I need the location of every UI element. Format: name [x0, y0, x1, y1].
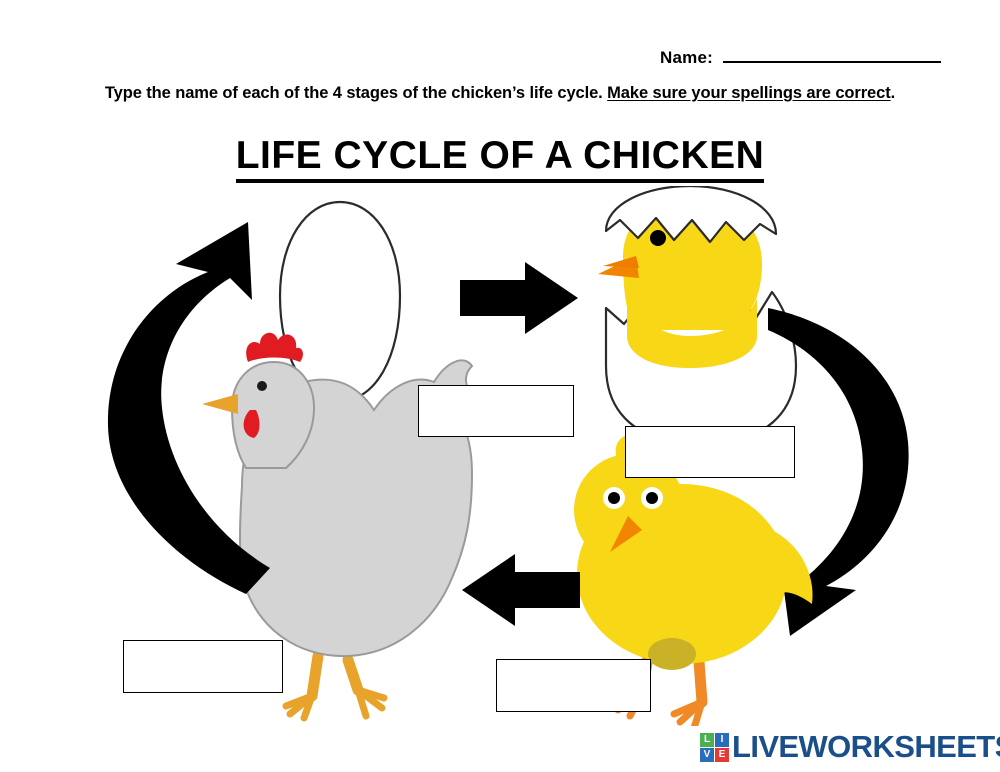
liveworksheets-logo-text: LIVEWORKSHEETS [732, 729, 1000, 765]
worksheet-page: Name: Type the name of each of the 4 sta… [0, 0, 1000, 772]
instruction-part-2: . [891, 84, 895, 102]
answer-input-hatching-chick[interactable] [625, 426, 795, 478]
liveworksheets-logo-mark: L I V E [700, 733, 729, 762]
answer-input-hen[interactable] [123, 640, 283, 693]
liveworksheets-logo[interactable]: L I V E LIVEWORKSHEETS [700, 729, 1000, 765]
instruction-text: Type the name of each of the 4 stages of… [0, 84, 1000, 103]
name-label: Name: [660, 48, 713, 68]
arrow-chick-to-hen-icon [462, 554, 580, 626]
logo-square-v: V [700, 748, 714, 762]
hatching-chick-illustration [598, 186, 796, 444]
arrow-egg-to-hatching-icon [460, 262, 578, 334]
name-blank-line[interactable] [723, 44, 941, 63]
answer-input-chick[interactable] [496, 659, 651, 712]
logo-square-e: E [715, 748, 729, 762]
logo-square-i: I [715, 733, 729, 747]
answer-input-egg[interactable] [418, 385, 574, 437]
page-title-text: LIFE CYCLE OF A CHICKEN [236, 134, 765, 183]
name-row: Name: [660, 44, 941, 68]
logo-square-l: L [700, 733, 714, 747]
instruction-underlined: Make sure your spellings are correct [607, 84, 890, 102]
instruction-part-1: Type the name of each of the 4 stages of… [105, 84, 607, 102]
page-title: LIFE CYCLE OF A CHICKEN [0, 134, 1000, 178]
